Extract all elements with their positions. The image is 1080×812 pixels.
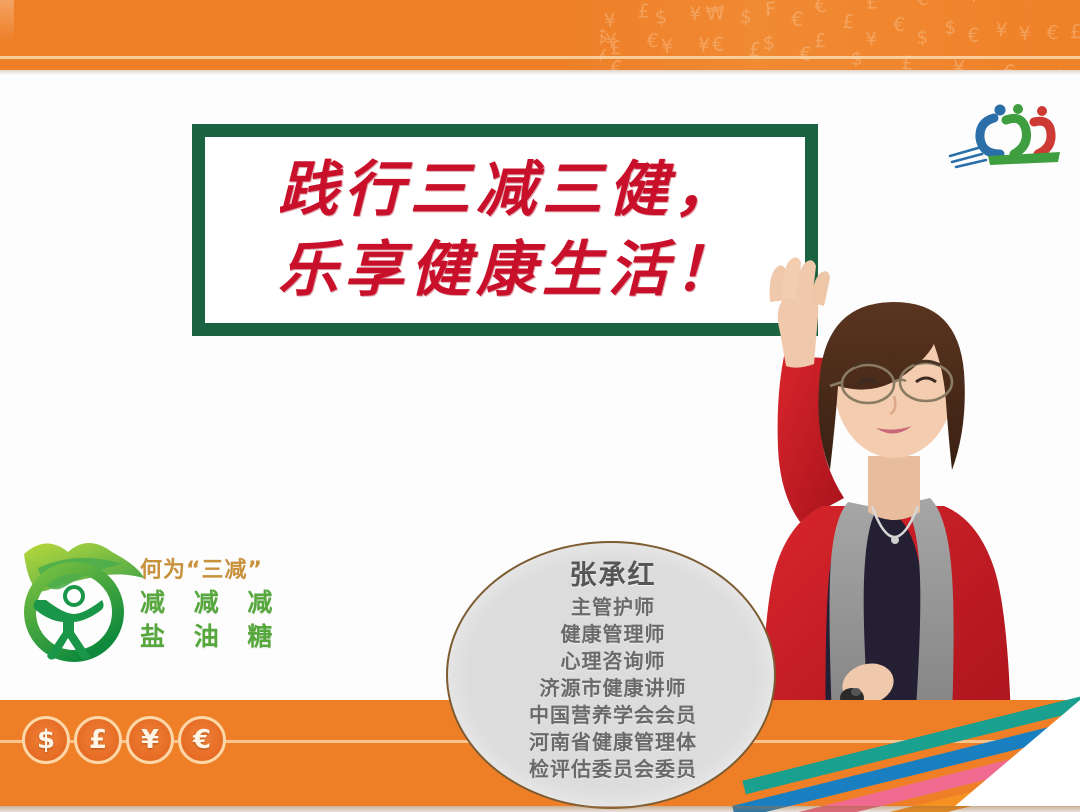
header-hairline (0, 56, 1080, 59)
sanjian-row-items: 盐 油 糖 (140, 620, 290, 654)
poster-canvas: ¥ $ ₩ ₣ € £ € ¥ $ £ ¥ € £ ¥ $ € £ € $ ¥ … (0, 0, 1080, 812)
health-city-logo (948, 96, 1072, 172)
credential-item: 济源市健康讲师 (448, 675, 776, 702)
coin-yen: ¥ (126, 716, 174, 764)
logo-head (65, 587, 83, 605)
bio-text-block: 张承红 主管护师 健康管理师 心理咨询师 济源市健康讲师 中国营养学会会员 河南… (448, 559, 776, 783)
currency-coins: $ £ ¥ € (22, 716, 230, 764)
slogan-line-2: 乐享健康生活！ (278, 230, 740, 310)
header-band: ¥ $ ₩ ₣ € £ € ¥ $ £ ¥ € £ ¥ $ € £ € $ ¥ … (0, 0, 1080, 70)
credential-item: 中国营养学会会员 (448, 702, 776, 729)
three-reduction-logo (8, 528, 148, 670)
coin-euro: € (178, 716, 226, 764)
credential-item: 健康管理师 (448, 621, 776, 648)
sanjian-row-reduce: 减 减 减 (140, 586, 290, 620)
presenter-name: 张承红 (448, 559, 776, 593)
header-left-highlight (0, 0, 14, 70)
coin-pound: £ (74, 716, 122, 764)
credential-item: 主管护师 (448, 594, 776, 621)
footer-band-shadow (0, 806, 1080, 812)
slogan-line-1: 践行三减三健， (278, 150, 740, 230)
currency-texture: ¥ $ ₩ ₣ € £ € ¥ $ £ ¥ € £ ¥ $ € £ € $ ¥ … (600, 0, 1080, 70)
header-band-shadow (0, 70, 1080, 75)
credential-item: 河南省健康管理体 (448, 729, 776, 756)
presenter-bio-oval: 张承红 主管护师 健康管理师 心理咨询师 济源市健康讲师 中国营养学会会员 河南… (446, 541, 776, 809)
credential-item: 检评估委员会委员 (448, 756, 776, 783)
coin-dollar: $ (22, 716, 70, 764)
sanjian-heading: 何为“三减” (140, 556, 290, 586)
credential-item: 心理咨询师 (448, 648, 776, 675)
three-reduction-text: 何为“三减” 减 减 减 盐 油 糖 (140, 556, 290, 654)
